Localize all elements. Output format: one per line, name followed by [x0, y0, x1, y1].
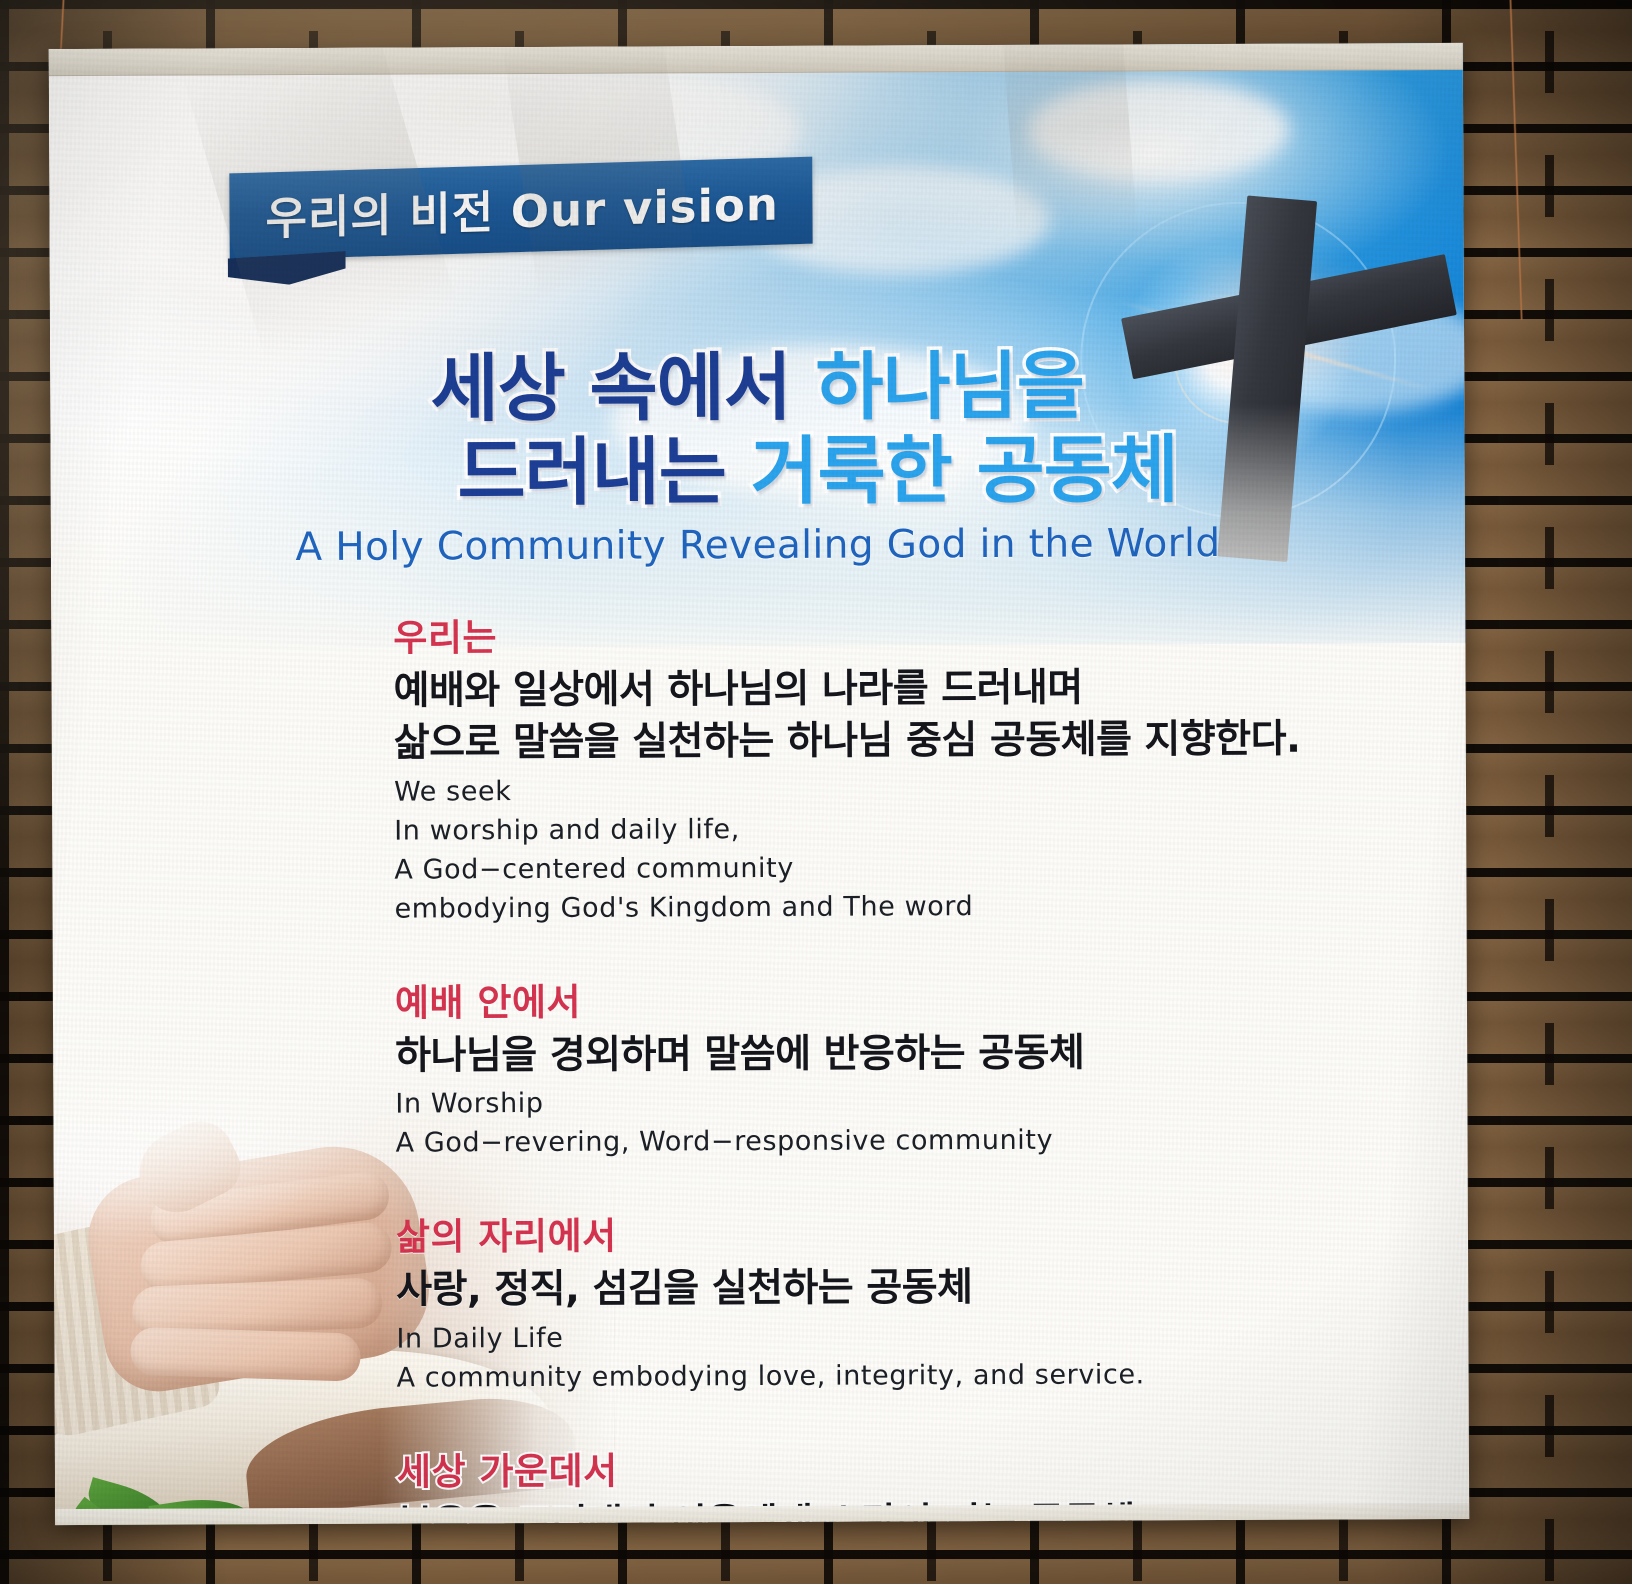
vision-section-1: 우리는 예배와 일상에서 하나님의 나라를 드러내며 삶으로 말씀을 실천하는 …: [393, 603, 1414, 926]
section-body-en-line: In worship and daily life,: [394, 809, 1414, 849]
ribbon-banner: 우리의 비전 Our vision: [229, 157, 813, 261]
vision-section-2: 예배 안에서 하나님을 경외하며 말씀에 반응하는 공동체 In Worship…: [395, 968, 1416, 1161]
section-heading: 세상 가운데서: [397, 1437, 1417, 1495]
section-heading: 예배 안에서: [395, 968, 1415, 1026]
spacer: [396, 1162, 1416, 1206]
section-heading: 삶의 자리에서: [396, 1202, 1416, 1260]
headline-line-2-light: 거룩한 공동체: [750, 428, 1178, 516]
headline-subtitle: A Holy Community Revealing God in the Wo…: [51, 520, 1465, 571]
headline-block: 세상 속에서 하나님을 드러내는 거룩한 공동체 A Holy Communit…: [50, 343, 1465, 571]
section-body-en-line: embodying God's Kingdom and The word: [394, 887, 1414, 927]
section-body-ko-line: 삶으로 말씀을 실천하는 하나님 중심 공동체를 지향한다.: [394, 713, 1414, 770]
ribbon-label: 우리의 비전 Our vision: [265, 168, 779, 248]
headline-line-2: 드러내는 거룩한 공동체: [50, 427, 1464, 518]
headline-line-1-dark: 세상 속에서: [430, 345, 815, 433]
section-heading: 우리는: [393, 603, 1413, 661]
spacer: [397, 1397, 1417, 1441]
section-body-ko-line: 하나님을 경외하며 말씀에 반응하는 공동체: [395, 1026, 1415, 1083]
section-body-ko-line: 예배와 일상에서 하나님의 나라를 드러내며: [393, 661, 1413, 718]
vision-sections: 우리는 예배와 일상에서 하나님의 나라를 드러내며 삶으로 말씀을 실천하는 …: [393, 603, 1417, 1525]
headline-line-1: 세상 속에서 하나님을: [50, 343, 1464, 434]
section-body-ko-line: 사랑, 정직, 섬김을 실천하는 공동체: [396, 1260, 1416, 1317]
headline-line-2-dark: 드러내는: [457, 429, 750, 516]
section-body-en-line: We seek: [394, 770, 1414, 810]
vision-section-3: 삶의 자리에서 사랑, 정직, 섬김을 실천하는 공동체 In Daily Li…: [396, 1202, 1417, 1395]
vision-ribbon: 우리의 비전 Our vision: [229, 164, 813, 254]
section-body-en-line: A community embodying love, integrity, a…: [397, 1356, 1417, 1396]
section-body-en-line: A God−revering, Word−responsive communit…: [395, 1121, 1415, 1161]
section-body-en-line: A God−centered community: [394, 848, 1414, 888]
headline-line-1-light: 하나님을: [815, 344, 1084, 431]
section-body-en-line: In Daily Life: [396, 1317, 1416, 1357]
section-body-en-line: In Worship: [395, 1082, 1415, 1122]
vision-banner: 우리의 비전 Our vision 세상 속에서 하나님을 드러내는 거룩한 공…: [49, 43, 1469, 1525]
spacer: [395, 928, 1415, 972]
